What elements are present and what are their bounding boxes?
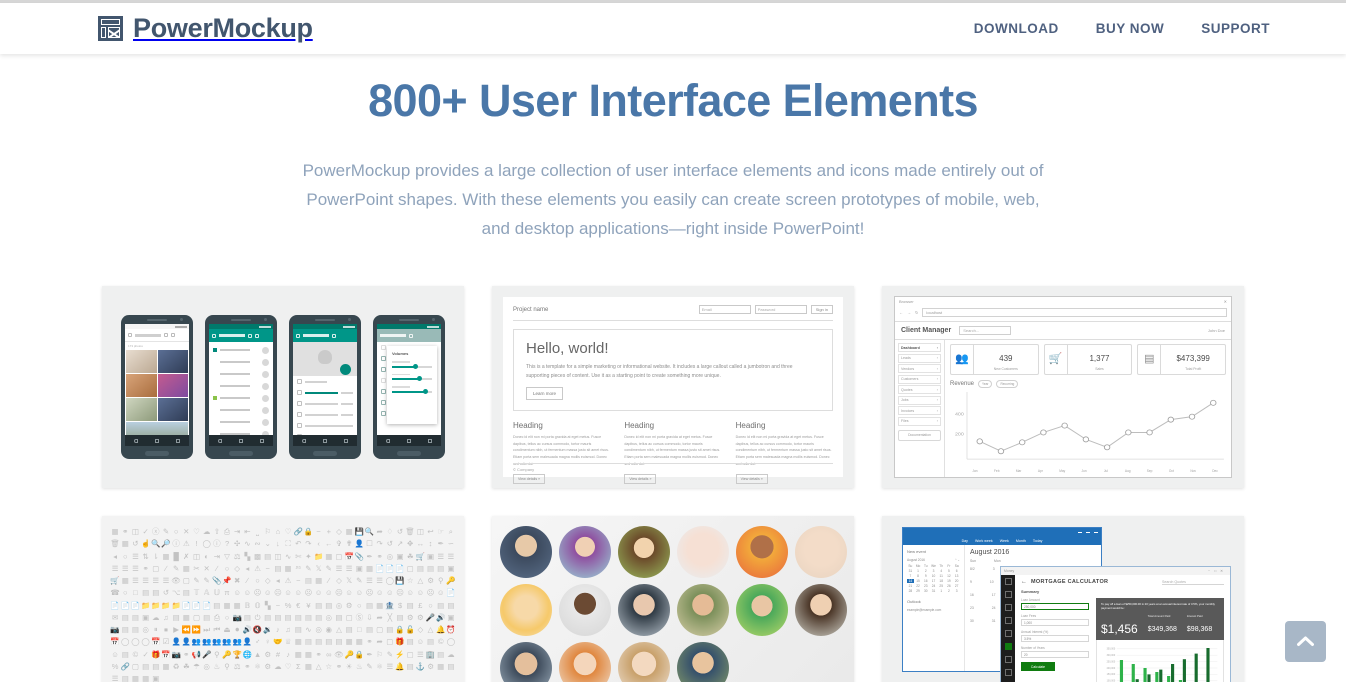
- content-column: Heading Donec id elit non mi porta gravi…: [736, 421, 833, 485]
- inbox-icon: ▤: [405, 661, 415, 672]
- refresh-icon: ↺: [395, 526, 405, 537]
- calendar-icon: 📅: [344, 551, 354, 562]
- pencil-icon: ✎: [171, 563, 181, 574]
- key2-icon: 🔑: [222, 649, 232, 660]
- chart-icon: ▦: [161, 551, 171, 562]
- home-icon[interactable]: [1005, 591, 1012, 598]
- documentation-button[interactable]: Documentation: [898, 430, 941, 441]
- ruler-icon: ✕: [202, 563, 212, 574]
- favorite-icon: ♡: [283, 526, 293, 537]
- cable-icon: ▤: [303, 612, 313, 623]
- column-heading: Heading: [513, 421, 610, 430]
- group-icon: 👥: [212, 636, 222, 647]
- lock2-icon: 🔒: [395, 624, 405, 635]
- view-details-link[interactable]: View details »: [513, 474, 545, 484]
- folder4-icon: 📁: [161, 600, 171, 611]
- rows2-icon: ▤: [446, 661, 456, 672]
- cam2-icon: 📷: [110, 624, 120, 635]
- sidebar-item-vendors[interactable]: Vendors›: [898, 364, 941, 373]
- link2-icon: 🔗: [120, 661, 130, 672]
- text-icon: ▤: [181, 587, 191, 598]
- brand-logo-link[interactable]: PowerMockup: [98, 13, 313, 44]
- bag-icon: ▦: [120, 538, 130, 549]
- settings-icon[interactable]: [1005, 669, 1012, 676]
- picture-icon: ▣: [151, 673, 161, 682]
- app-name: Client Manager: [901, 327, 951, 334]
- book2-icon: ▢: [405, 649, 415, 660]
- svg-text:200,000: 200,000: [1107, 666, 1116, 669]
- exclaim-icon: !: [191, 538, 201, 549]
- avatar: [736, 584, 788, 636]
- sidebar-item-files[interactable]: Files›: [898, 417, 941, 426]
- list-item: [209, 368, 273, 380]
- svg-text:250,000: 250,000: [1107, 660, 1116, 663]
- horizontal-icon: ↔: [415, 538, 425, 549]
- alert-icon: ⚠: [252, 563, 262, 574]
- nav-link-buy-now[interactable]: BUY NOW: [1096, 21, 1165, 36]
- font-icon: 𝕏: [314, 563, 324, 574]
- oval2-icon: ○: [120, 587, 130, 598]
- menu-icon[interactable]: [1005, 578, 1012, 585]
- team-icon: 👥: [222, 636, 232, 647]
- gallery-tile-dashboard-elements[interactable]: Browser ✕ ← → ↻ localhost Client Manager…: [882, 286, 1244, 488]
- close-icon[interactable]: ✕: [1224, 299, 1227, 304]
- jumbotron: Hello, world! This is a template for a s…: [513, 329, 833, 411]
- search-input[interactable]: Search...: [959, 326, 1011, 335]
- ribbon-month[interactable]: Month: [1016, 539, 1026, 543]
- sidebar-item-jobs[interactable]: Jobs›: [898, 396, 941, 405]
- crop-icon: ▦: [181, 563, 191, 574]
- atom-icon: ⚛: [252, 661, 262, 672]
- plug-icon: ▤: [242, 612, 252, 623]
- bullets-icon: ☰: [364, 575, 374, 586]
- tree-icon: △: [314, 661, 324, 672]
- card3-icon: ▤: [334, 636, 344, 647]
- wallet-icon: ▤: [436, 600, 446, 611]
- kpi-value: 1,377: [1089, 354, 1109, 363]
- sidebar-item-dashboard[interactable]: Dashboard›: [898, 343, 941, 352]
- page-icon: ▢: [405, 563, 415, 574]
- yen-icon: ¥: [303, 600, 313, 611]
- ribbon-today[interactable]: Today: [1033, 539, 1043, 543]
- book-icon: ▢: [151, 563, 161, 574]
- magnet-icon: ⚭: [242, 661, 252, 672]
- oval-icon: ○: [252, 575, 262, 586]
- bank-icon[interactable]: [1005, 630, 1012, 637]
- printer2-icon: ⎙: [212, 612, 222, 623]
- upload-icon: ⇧: [212, 526, 222, 537]
- type-icon: 𝕏: [344, 575, 354, 586]
- minus-icon: −: [314, 526, 324, 537]
- cross2-icon: ╳: [385, 612, 395, 623]
- forward-icon[interactable]: →: [907, 310, 911, 315]
- mask-icon: ☺: [415, 636, 425, 647]
- project-name: Project name: [513, 307, 548, 313]
- content-column: Heading Donec id elit non mi porta gravi…: [513, 421, 610, 485]
- loud-icon: 🔊: [242, 624, 252, 635]
- jumbotron-title: Hello, world!: [526, 340, 820, 357]
- bars3-icon: ☰: [151, 575, 161, 586]
- smile21-icon: ☺: [436, 587, 446, 598]
- flag2-icon: ⚐: [375, 649, 385, 660]
- list2-icon: ☰: [334, 563, 344, 574]
- rewind-icon: ⏪: [181, 624, 191, 635]
- bars2-icon: ☰: [141, 575, 151, 586]
- sidebar-item-leads[interactable]: Leads›: [898, 354, 941, 363]
- back-icon[interactable]: ←: [899, 310, 903, 315]
- cancel-icon: ⓧ: [151, 526, 161, 537]
- list-item: [209, 392, 273, 404]
- money-icon: ▤: [314, 600, 324, 611]
- battery-icon: ◫: [191, 551, 201, 562]
- sync-icon: ↺: [385, 538, 395, 549]
- lamp-icon: ▤: [141, 661, 151, 672]
- email-field[interactable]: Email: [699, 305, 751, 314]
- list4-icon: ☰: [385, 661, 395, 672]
- field-label: Loan Fees: [1021, 614, 1089, 618]
- cart2-icon: 🛒: [415, 551, 425, 562]
- resize-icon: ✥: [405, 538, 415, 549]
- minus3-icon: −: [273, 600, 283, 611]
- gear2-icon: ⚙: [263, 661, 273, 672]
- align-center-icon: ☰: [120, 563, 130, 574]
- infinity-icon: ∞: [324, 649, 334, 660]
- rectangle-icon: □: [354, 624, 364, 635]
- hand-icon: ☞: [436, 526, 446, 537]
- list-item: [209, 416, 273, 428]
- total-paid-value: $349,368: [1148, 626, 1177, 633]
- cloud-icon: ☁: [202, 526, 212, 537]
- page-title: 800+ User Interface Elements: [0, 76, 1346, 126]
- record-icon: ○: [120, 551, 130, 562]
- clock4-icon: ◯: [130, 636, 140, 647]
- coins-icon: ▤: [1138, 354, 1160, 365]
- window-controls[interactable]: −□✕: [1208, 569, 1227, 573]
- back-icon[interactable]: ←: [1021, 579, 1027, 585]
- square-icon: □: [130, 587, 140, 598]
- kpi-label: Total Profit: [1162, 367, 1224, 371]
- file3-icon: 📄: [120, 600, 130, 611]
- svg-text:150,000: 150,000: [1107, 673, 1116, 676]
- list3-icon: ☰: [344, 563, 354, 574]
- phone-photos: 173 photos: [121, 315, 193, 459]
- blank-icon: ○: [354, 600, 364, 611]
- account-group[interactable]: Outlook: [907, 599, 960, 604]
- mortgage-title: MORTGAGE CALCULATOR: [1031, 579, 1108, 585]
- years-input[interactable]: 20: [1021, 651, 1089, 658]
- network2-icon: ⚭: [364, 636, 374, 647]
- grid-icon: ▦: [110, 526, 120, 537]
- tool-icon: ⚙: [263, 649, 273, 660]
- safe-icon: ▦: [375, 600, 385, 611]
- sort-icon: ⇅: [141, 551, 151, 562]
- attach-icon: 📎: [354, 551, 364, 562]
- doc2-icon: 📄: [446, 587, 456, 598]
- device2-icon: ▤: [334, 612, 344, 623]
- pen-icon: ✒: [436, 538, 446, 549]
- puzzle-icon: ▦: [161, 661, 171, 672]
- gallery-tile-photo-library[interactable]: Photo backgrounds: [492, 516, 854, 682]
- umbrella-icon: ☂: [191, 661, 201, 672]
- dna-icon: ⚭: [334, 661, 344, 672]
- mask2-icon: ☺: [110, 649, 120, 660]
- signal-icon: ▚: [242, 551, 252, 562]
- clock2-icon: ◯: [385, 575, 395, 586]
- info-icon: ⓘ: [171, 538, 181, 549]
- percent2-icon: %: [110, 661, 120, 672]
- pi-icon: π: [222, 587, 232, 598]
- cut-icon: ✄: [293, 551, 303, 562]
- search-quotes-input[interactable]: Search Quotes: [1162, 580, 1224, 585]
- flag-icon: ⚐: [263, 526, 273, 537]
- gallery-tile-web-elements[interactable]: Project name Email Password Sign in Hell…: [492, 286, 854, 488]
- learn-more-button[interactable]: Learn more: [526, 387, 563, 400]
- calculate-button[interactable]: Calculate: [1021, 662, 1055, 671]
- search-icon[interactable]: [1005, 617, 1012, 624]
- flask-icon: ⚲: [436, 575, 446, 586]
- cd-icon: ◎: [324, 612, 334, 623]
- back-icon: ↩: [425, 526, 435, 537]
- pencil2-icon: ✎: [385, 649, 395, 660]
- address-bar[interactable]: localhost: [922, 308, 1227, 317]
- reload-icon[interactable]: ↻: [915, 310, 918, 315]
- avatar: [677, 526, 729, 578]
- person2-icon: 👤: [242, 636, 252, 647]
- grid2-icon: ▤: [303, 575, 313, 586]
- scroll-to-top-button[interactable]: [1285, 621, 1326, 662]
- italic-icon: 𝄉: [293, 563, 303, 574]
- zoom-out-icon: 🔎: [161, 538, 171, 549]
- star2-icon: ☆: [324, 661, 334, 672]
- frame-icon: ▣: [446, 563, 456, 574]
- users2-icon: 👥: [191, 636, 201, 647]
- bold-icon: 𝔹: [242, 600, 252, 611]
- phone-edit-contact: [289, 315, 361, 459]
- smile3-icon: ☹: [252, 587, 262, 598]
- warning-icon: ⚠: [181, 538, 191, 549]
- hero-description: PowerMockup provides a large collection …: [293, 156, 1053, 244]
- calendar-ribbon: Day Work week Week Month Today: [903, 536, 1101, 545]
- chart-filter-recurring[interactable]: Recurring: [996, 380, 1018, 388]
- merge-icon: ✟: [344, 538, 354, 549]
- zoom-icon: 🔍: [151, 538, 161, 549]
- usb-icon: ▤: [202, 612, 212, 623]
- chevron-up-icon: [1297, 636, 1314, 647]
- plus-icon: +: [324, 526, 334, 537]
- stack2-icon: ▦: [232, 600, 242, 611]
- smile16-icon: ☺: [385, 587, 395, 598]
- delete-icon: 🗑: [110, 538, 120, 549]
- gallery-tile-mobile-elements[interactable]: 173 photos: [102, 286, 464, 488]
- left-arrow-icon: ←: [324, 538, 334, 549]
- nav-link-download[interactable]: DOWNLOAD: [974, 21, 1059, 36]
- smile6-icon: ☺: [283, 587, 293, 598]
- view-details-link[interactable]: View details »: [736, 474, 768, 484]
- world-icon: 🌐: [242, 649, 252, 660]
- gallery-tile-icon-library[interactable]: ▦⚭◫✓ⓧ✎○✕♡☁⇧⎙⇥⇤⎵⚐⌂♡🔗🔒−+◇▦💾🔍➦♢↺🗑◫↩☞⌕ 🗑▦↺☝🔍…: [102, 516, 464, 682]
- ribbon-day[interactable]: Day: [962, 539, 968, 543]
- mic-icon: 🎤: [425, 612, 435, 623]
- shape-icon: ◇: [232, 563, 242, 574]
- bell-icon: 🔔: [436, 624, 446, 635]
- cart-icon: 🛒: [1045, 354, 1067, 365]
- list-icon: ☰: [130, 551, 140, 562]
- ribbon-work-week[interactable]: Work week: [975, 539, 993, 543]
- smile15-icon: ☺: [375, 587, 385, 598]
- view-details-link[interactable]: View details »: [624, 474, 656, 484]
- svg-text:350,000: 350,000: [1107, 647, 1116, 650]
- chart-filter-year[interactable]: Year: [978, 380, 992, 388]
- avatar: [500, 526, 552, 578]
- hash-icon: #: [273, 649, 283, 660]
- eye2-icon: 👁: [334, 649, 344, 660]
- bill-icon: ▤: [324, 600, 334, 611]
- password-field[interactable]: Password: [755, 305, 807, 314]
- new-event-button[interactable]: New event: [907, 549, 960, 554]
- sidebar-item-invoices[interactable]: Invoices›: [898, 406, 941, 415]
- building-icon: 🏢: [425, 649, 435, 660]
- browser-window-title: Browser: [899, 299, 914, 304]
- archive-icon: ▦: [324, 551, 334, 562]
- cam3-icon: 📷: [171, 649, 181, 660]
- bike-icon: ◎: [202, 661, 212, 672]
- avatar: [618, 642, 670, 682]
- trophy-icon: 🏆: [232, 649, 242, 660]
- layout-icon: ▤: [263, 551, 273, 562]
- check2-icon: ✓: [141, 649, 151, 660]
- bank-icon: 🏦: [385, 600, 395, 611]
- paste-icon: ▦: [364, 563, 374, 574]
- server-icon: ▦: [181, 612, 191, 623]
- loan-amount-input[interactable]: 250,000: [1021, 603, 1089, 610]
- column-heading: Heading: [624, 421, 721, 430]
- box-icon: ▢: [334, 551, 344, 562]
- file2-icon: 📄: [110, 600, 120, 611]
- smile4-icon: ☺: [263, 587, 273, 598]
- align-right-icon: ☰: [130, 563, 140, 574]
- check-icon: ✓: [141, 526, 151, 537]
- interest-input[interactable]: 3.5%: [1021, 635, 1089, 642]
- smile11-icon: ☹: [334, 587, 344, 598]
- avatar: [559, 526, 611, 578]
- speaker2-icon: ▤: [344, 624, 354, 635]
- clock-icon: ◯: [202, 538, 212, 549]
- mini-month-label: August 2016: [907, 558, 925, 562]
- desktop-icon: ▤: [293, 612, 303, 623]
- gear-icon: ⚙: [425, 575, 435, 586]
- filter-icon: ⇂: [151, 551, 161, 562]
- user3-icon: 👤: [181, 636, 191, 647]
- user-menu[interactable]: John Doe: [1208, 328, 1225, 333]
- note-icon: ♪: [273, 624, 283, 635]
- trend-icon[interactable]: [1005, 604, 1012, 611]
- loan-fees-input[interactable]: 1,000: [1021, 619, 1089, 626]
- sun-icon: ☀: [344, 661, 354, 672]
- total-paid-label: Total Amount Paid: [1148, 614, 1177, 618]
- prev-icon: ‹: [314, 538, 324, 549]
- heart2-icon: ♡: [283, 661, 293, 672]
- key3-icon: 🔑: [344, 649, 354, 660]
- sign-in-button[interactable]: Sign in: [811, 305, 833, 314]
- male-icon: ♂: [252, 636, 262, 647]
- tablet2-icon: ▤: [273, 612, 283, 623]
- pen2-icon: ✒: [364, 649, 374, 660]
- arc-icon: ⌥: [171, 587, 181, 598]
- phone2-icon: ▢: [344, 612, 354, 623]
- avatar: [677, 642, 729, 682]
- field-label: Annual Interest (%): [1021, 630, 1089, 634]
- camera-icon: 📷: [232, 612, 242, 623]
- calculator-icon[interactable]: [1005, 643, 1012, 650]
- pin-icon: 📌: [222, 575, 232, 586]
- trend-icon: ∿: [283, 551, 293, 562]
- fan-icon: ⚙: [344, 600, 354, 611]
- reports-icon[interactable]: [1005, 656, 1012, 663]
- smile13-icon: ☺: [354, 587, 364, 598]
- down-chevron-icon: ⌄: [263, 538, 273, 549]
- chem-icon: ⚲: [222, 661, 232, 672]
- icon-grid: ▦⚭◫✓ⓧ✎○✕♡☁⇧⎙⇥⇤⎵⚐⌂♡🔗🔒−+◇▦💾🔍➦♢↺🗑◫↩☞⌕ 🗑▦↺☝🔍…: [110, 526, 456, 682]
- chart-title: Revenue: [950, 381, 974, 387]
- levels-icon: ▩: [252, 551, 262, 562]
- tag2-icon: ◇: [334, 575, 344, 586]
- hero-section: 800+ User Interface Elements PowerMockup…: [0, 54, 1346, 243]
- avatar: [559, 642, 611, 682]
- grid5-icon: ▦: [130, 673, 140, 682]
- gallery-tile-desktop-elements[interactable]: Day Work week Week Month Today New event…: [882, 516, 1244, 682]
- rotate-icon: ↷: [375, 538, 385, 549]
- file-icon: 📄: [395, 563, 405, 574]
- hierarchy-icon: ⚖: [232, 551, 242, 562]
- smile20-icon: ☹: [425, 587, 435, 598]
- contact-list: [209, 342, 273, 446]
- rec-icon: ⏺: [232, 624, 242, 635]
- smile5-icon: ☹: [273, 587, 283, 598]
- zoom-in-icon: ⌕: [446, 526, 456, 537]
- volumes-dialog: Volumes: [387, 346, 437, 424]
- wifi-icon: ☁: [446, 649, 456, 660]
- anchor-icon: ⚓: [415, 661, 425, 672]
- site-footer: © Company: [513, 463, 833, 472]
- ribbon-week[interactable]: Week: [1000, 539, 1009, 543]
- brand-name: PowerMockup: [133, 13, 313, 44]
- sidebar-item-quotes[interactable]: Quotes›: [898, 385, 941, 394]
- play2-icon: ▶: [171, 624, 181, 635]
- result-text: To pay off a loan of $250,000.00 in 20 y…: [1101, 602, 1219, 610]
- smile17-icon: ☹: [395, 587, 405, 598]
- sidebar-item-customers[interactable]: Customers›: [898, 375, 941, 384]
- chart-x-axis: Jan Feb Mar Apr May Jun Jul Aug Sep Oct …: [950, 469, 1226, 473]
- idcard-icon: ▤: [314, 636, 324, 647]
- globe2-icon: ⚭: [181, 649, 191, 660]
- phone-contacts: [205, 315, 277, 459]
- dialog-title: Volumes: [392, 351, 432, 356]
- interest-paid-value: $98,368: [1187, 626, 1212, 633]
- percent-icon: %: [283, 600, 293, 611]
- content-column: Heading Donec id elit non mi porta gravi…: [624, 421, 721, 485]
- vol-icon: 🔉: [263, 624, 273, 635]
- time-icon: ◯: [446, 636, 456, 647]
- card2-icon: ▤: [415, 563, 425, 574]
- avatar: [559, 584, 611, 636]
- send-icon: ◂: [110, 551, 120, 562]
- screen2-icon: ▤: [120, 649, 130, 660]
- clock5-icon: ◯: [141, 636, 151, 647]
- pie-icon: ◐: [202, 551, 212, 562]
- nav-link-support[interactable]: SUPPORT: [1201, 21, 1270, 36]
- flask2-icon: ⚲: [212, 649, 222, 660]
- section-label: Summary: [1021, 589, 1224, 594]
